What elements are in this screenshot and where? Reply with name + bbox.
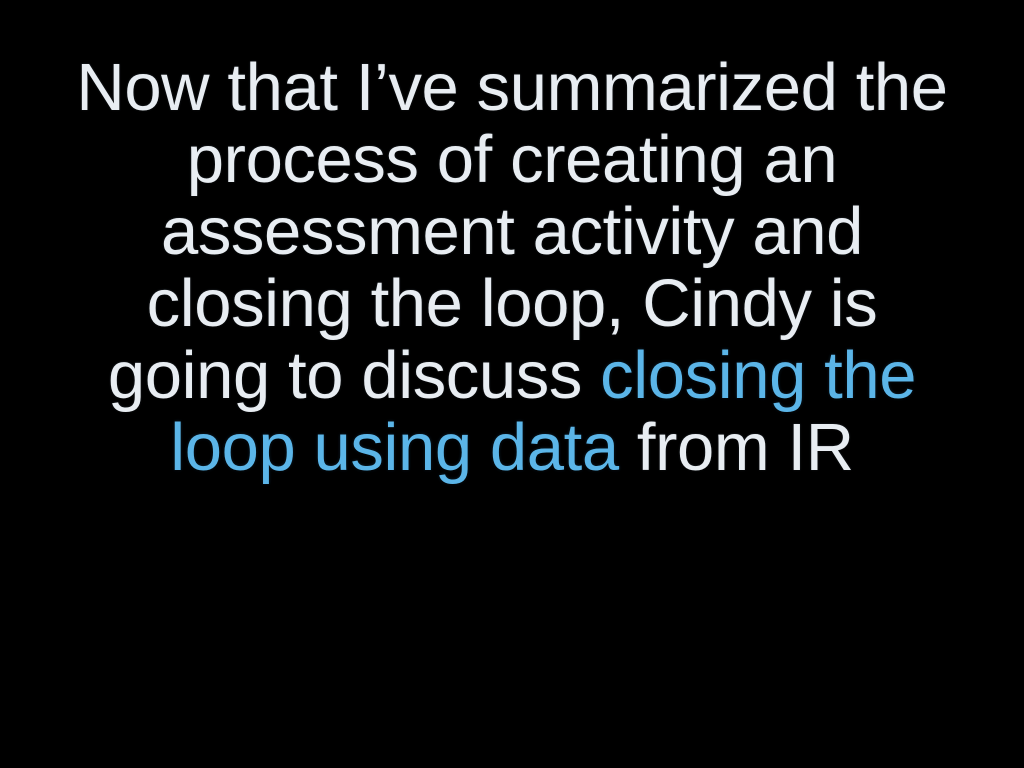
text-segment-plain: from IR [619,410,854,485]
text-segment-plain: Now that I’ve summarized the [76,50,947,125]
text-line-5: going to discuss closing the [56,340,968,412]
text-segment-plain: closing the loop, Cindy is [147,266,878,341]
text-line-6: loop using data from IR [56,412,968,484]
text-line-4: closing the loop, Cindy is [56,268,968,340]
text-line-2: process of creating an [56,124,968,196]
text-segment-plain: assessment activity and [161,194,863,269]
text-segment-plain: process of creating an [187,122,837,197]
text-segment-plain: going to discuss [108,338,600,413]
text-segment-highlighted: closing the [600,338,916,413]
text-segment-highlighted: loop using data [170,410,618,485]
presentation-slide: Now that I’ve summarized the process of … [0,0,1024,768]
text-line-3: assessment activity and [56,196,968,268]
text-line-1: Now that I’ve summarized the [56,52,968,124]
slide-body-text: Now that I’ve summarized the process of … [0,52,1024,484]
